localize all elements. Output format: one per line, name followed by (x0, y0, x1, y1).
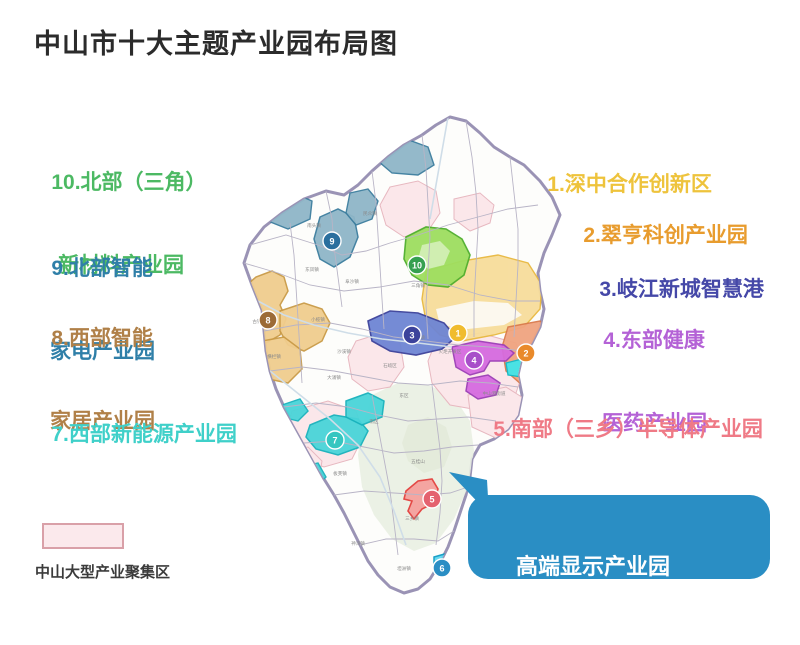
map-town-label: 神湾镇 (351, 540, 365, 547)
page-title: 中山市十大主题产业园布局图 (34, 22, 398, 61)
park-label-7[interactable]: 7.西部新能源产业园 (28, 393, 237, 476)
park-label-6-line2: 高端显示产业园 (490, 552, 770, 582)
park-label-8-line1: 8.西部智能 (51, 327, 153, 350)
park-label-1-line1: 1.深中合作创新区 (547, 173, 712, 196)
map-town-label: 横栏镇 (267, 353, 281, 360)
map-town-label: 小榄镇 (311, 316, 325, 323)
map-town-label: 三角镇 (411, 282, 425, 289)
map-town-label: 石岐区 (383, 362, 397, 369)
map-town-label: 板芙镇 (333, 470, 347, 477)
map-town-label: 五桂山 (411, 458, 425, 465)
map-marker-label-9: 9 (329, 237, 334, 247)
park-label-3-line1: 3.岐江新城智慧港 (599, 278, 764, 301)
park-label-10-line1: 10.北部（三角） (51, 171, 206, 194)
map-town-label: 南区 (369, 418, 379, 424)
map-town-label: 民众镇 (363, 210, 377, 217)
map-town-label: 三乡镇 (405, 515, 419, 522)
map-town-label: 火炬开发区 (439, 348, 462, 355)
poster-root: 中山市十大主题产业园布局图 (0, 0, 800, 645)
map-marker-label-5: 5 (429, 495, 434, 505)
map-marker-label-8: 8 (265, 316, 270, 326)
map-marker-label-2: 2 (523, 349, 528, 359)
map-town-label: 东区 (399, 392, 409, 398)
park-label-4-line1: 4.东部健康 (603, 329, 705, 352)
legend-swatch (42, 523, 124, 549)
map-town-label: 南头镇 (307, 222, 321, 229)
park-label-6: 6.南部（坦洲） 高端显示产业园 (490, 431, 770, 644)
map-marker-label-1: 1 (455, 329, 460, 339)
park-label-2-line1: 2.翠亨科创产业园 (583, 224, 748, 247)
map-marker-label-3: 3 (409, 331, 414, 341)
map-marker-label-6: 6 (439, 564, 444, 574)
map-marker-label-10: 10 (412, 261, 422, 271)
map-town-label: 东凤镇 (305, 266, 319, 273)
park-label-6-line1: 6.南部（坦洲） (527, 463, 677, 488)
map-town-label: 大涌镇 (327, 374, 341, 381)
park-callout-6[interactable]: 6.南部（坦洲） 高端显示产业园 (468, 495, 770, 579)
park-label-7-line1: 7.西部新能源产业园 (51, 423, 237, 446)
map-town-label: 阜沙镇 (345, 278, 359, 285)
park-label-9-line1: 9.北部智能 (51, 257, 153, 280)
map-marker-label-4: 4 (471, 356, 476, 366)
legend-label: 中山大型产业聚集区 (35, 561, 170, 582)
map-marker-label-7: 7 (332, 436, 337, 446)
map-town-label: 沙溪镇 (337, 348, 351, 355)
map-town-label: 坦洲镇 (397, 565, 411, 572)
